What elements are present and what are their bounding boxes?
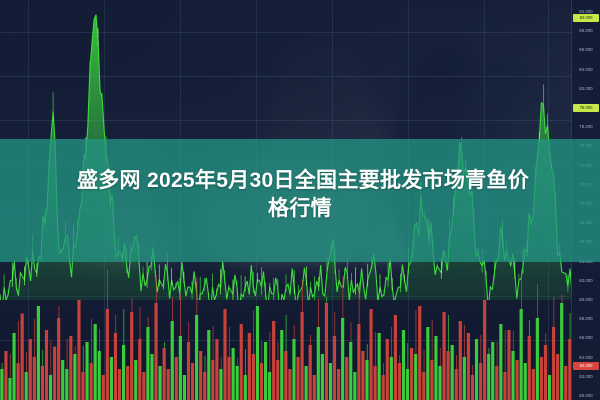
axis-tick: 50.000 — [573, 392, 599, 399]
volume-bar — [374, 366, 377, 400]
volume-bar — [540, 357, 543, 400]
volume-bar — [394, 315, 397, 400]
volume-wick — [480, 335, 481, 363]
volume-bar — [288, 369, 291, 400]
volume-bar — [313, 375, 316, 400]
volume-wick — [172, 297, 173, 321]
volume-bar — [4, 351, 7, 400]
volume-bar — [341, 318, 344, 400]
volume-bar — [292, 339, 295, 400]
volume-bar — [402, 330, 405, 400]
volume-bar — [272, 321, 275, 400]
volume-bar — [471, 375, 474, 400]
volume-wick — [351, 322, 352, 342]
axis-price-tag: 92.000 — [573, 14, 599, 22]
volume-wick — [115, 315, 116, 333]
volume-bar — [406, 369, 409, 400]
volume-wick — [407, 343, 408, 369]
volume-wick — [334, 312, 335, 336]
volume-wick — [383, 363, 384, 375]
volume-wick — [367, 344, 368, 360]
volume-wick — [440, 348, 441, 366]
volume-bar — [0, 369, 3, 400]
volume-wick — [432, 320, 433, 360]
volume-bar — [240, 324, 243, 400]
volume-bar — [122, 345, 125, 400]
volume-bar — [479, 363, 482, 400]
volume-bar — [378, 333, 381, 400]
volume-wick — [310, 335, 311, 345]
volume-bar — [475, 339, 478, 400]
volume-wick — [294, 325, 295, 339]
volume-bar — [483, 300, 486, 400]
axis-tick: 56.000 — [573, 334, 599, 341]
volume-bar — [317, 327, 320, 400]
volume-wick — [42, 350, 43, 366]
volume-bar — [463, 357, 466, 400]
axis-tick: 86.000 — [573, 46, 599, 53]
page-title: 盛多网 2025年5月30日全国主要批发市场青鱼价 格行情 — [0, 168, 600, 224]
volume-wick — [342, 276, 343, 318]
axis-tick: 58.000 — [573, 315, 599, 322]
volume-wick — [416, 310, 417, 354]
volume-wick — [318, 299, 319, 327]
volume-wick — [326, 297, 327, 303]
volume-bar — [321, 354, 324, 400]
volume-bar — [548, 375, 551, 400]
title-line-2: 格行情 — [0, 194, 600, 224]
volume-bar — [199, 351, 202, 400]
volume-bar — [305, 366, 308, 400]
volume-bar — [252, 354, 255, 400]
volume-bar — [159, 366, 162, 400]
volume-bar — [106, 309, 109, 400]
volume-bar — [528, 336, 531, 400]
volume-wick — [237, 358, 238, 366]
volume-bar — [455, 369, 458, 400]
volume-bar — [126, 366, 129, 400]
volume-bar — [183, 375, 186, 400]
axis-tick: 52.000 — [573, 373, 599, 380]
volume-bar — [163, 348, 166, 400]
volume-wick — [83, 346, 84, 372]
volume-bar — [560, 303, 563, 400]
volume-wick — [18, 321, 19, 363]
volume-wick — [156, 275, 157, 303]
volume-wick — [180, 294, 181, 336]
volume-bar — [102, 375, 105, 400]
axis-price-tag: 76.000 — [573, 104, 599, 112]
volume-wick — [269, 332, 270, 372]
volume-bar — [361, 351, 364, 400]
volume-wick — [537, 284, 538, 318]
volume-bar — [191, 363, 194, 400]
volume-bar — [37, 306, 40, 400]
volume-wick — [91, 319, 92, 363]
volume-bar — [329, 363, 332, 400]
volume-wick — [107, 269, 108, 309]
volume-bar — [447, 351, 450, 400]
volume-bar — [552, 327, 555, 400]
volume-bar — [256, 306, 259, 400]
volume-wick — [545, 333, 546, 345]
axis-tick: 82.000 — [573, 85, 599, 92]
volume-bar — [41, 366, 44, 400]
volume-bar — [410, 348, 413, 400]
volume-bar — [284, 351, 287, 400]
volume-bar — [187, 342, 190, 400]
volume-bar — [134, 360, 137, 400]
volume-wick — [261, 341, 262, 363]
volume-bar — [422, 372, 425, 400]
volume-wick — [302, 280, 303, 312]
volume-bar — [211, 360, 214, 400]
volume-wick — [148, 317, 149, 327]
volume-wick — [221, 357, 222, 369]
volume-bar — [118, 369, 121, 400]
volume-bar — [61, 360, 64, 400]
volume-bar — [511, 351, 514, 400]
volume-wick — [229, 327, 230, 357]
volume-bar — [301, 312, 304, 400]
volume-bar — [382, 375, 385, 400]
volume-bar — [524, 363, 527, 400]
volume-bar — [130, 312, 133, 400]
volume-bar — [219, 369, 222, 400]
volume-bar — [398, 363, 401, 400]
volume-wick — [489, 348, 490, 354]
volume-wick — [50, 341, 51, 375]
volume-bar — [495, 366, 498, 400]
volume-bar — [516, 360, 519, 400]
volume-wick — [164, 342, 165, 348]
volume-bar — [248, 333, 251, 400]
axis-tick: 60.000 — [573, 296, 599, 303]
volume-wick — [448, 315, 449, 351]
axis-tick: 78.000 — [573, 123, 599, 130]
volume-bar — [138, 339, 141, 400]
volume-bar — [223, 309, 226, 400]
volume-wick — [245, 349, 246, 375]
volume-bar — [21, 314, 24, 400]
volume-bar — [365, 360, 368, 400]
volume-bar — [544, 345, 547, 400]
volume-bar — [8, 378, 11, 400]
volume-bar — [57, 318, 60, 400]
axis-price-tag: 52.000 — [573, 362, 599, 370]
volume-bar — [390, 357, 393, 400]
volume-bar — [146, 327, 149, 400]
volume-wick — [75, 346, 76, 354]
volume-bar — [438, 366, 441, 400]
volume-bar — [337, 369, 340, 400]
volume-bar — [227, 357, 230, 400]
volume-bar — [418, 306, 421, 400]
title-line-1: 盛多网 2025年5月30日全国主要批发市场青鱼价 — [0, 168, 600, 194]
volume-bar — [45, 330, 48, 400]
volume-bar — [154, 303, 157, 400]
volume-wick — [424, 350, 425, 372]
volume-bar — [536, 318, 539, 400]
volume-bar — [150, 354, 153, 400]
volume-bar — [487, 354, 490, 400]
volume-bar — [171, 321, 174, 400]
volume-bar — [280, 330, 283, 400]
volume-bar — [499, 324, 502, 400]
volume-wick — [34, 319, 35, 357]
volume-bar — [369, 309, 372, 400]
volume-wick — [464, 325, 465, 357]
volume-bar — [94, 324, 97, 400]
volume-bar — [114, 333, 117, 400]
volume-bar — [49, 375, 52, 400]
volume-bar — [65, 369, 68, 400]
volume-wick — [472, 365, 473, 375]
volume-bar — [17, 363, 20, 400]
volume-bar — [77, 300, 80, 400]
volume-bar — [167, 369, 170, 400]
volume-bar — [276, 360, 279, 400]
volume-bar — [85, 342, 88, 400]
volume-bar — [556, 354, 559, 400]
volume-bar — [507, 330, 510, 400]
volume-wick — [375, 332, 376, 366]
volume-wick — [553, 297, 554, 327]
volume-bar — [345, 357, 348, 400]
volume-wick — [359, 286, 360, 324]
axis-tick: 88.000 — [573, 27, 599, 34]
volume-bar — [53, 347, 56, 400]
volume-bar — [564, 366, 567, 400]
volume-bar — [244, 375, 247, 400]
volume-wick — [391, 327, 392, 357]
volume-bar — [459, 321, 462, 400]
axis-tick: 84.000 — [573, 66, 599, 73]
volume-bar — [325, 303, 328, 400]
screenshot-root: 92.00088.00086.00084.00082.00080.00078.0… — [0, 0, 600, 400]
volume-bar — [25, 372, 28, 400]
volume-wick — [196, 277, 197, 315]
volume-bar — [142, 372, 145, 400]
volume-wick — [59, 306, 60, 318]
volume-wick — [213, 326, 214, 360]
volume-bar — [73, 354, 76, 400]
volume-bar — [434, 336, 437, 400]
volume-bar — [264, 342, 267, 400]
volume-bar — [195, 315, 198, 400]
volume-bar — [232, 348, 235, 400]
volume-wick — [205, 356, 206, 372]
volume-bar — [386, 339, 389, 400]
volume-wick — [529, 320, 530, 336]
volume-bar — [349, 342, 352, 400]
volume-bar — [296, 357, 299, 400]
volume-bar — [268, 372, 271, 400]
volume-wick — [562, 295, 563, 303]
volume-bar — [207, 330, 210, 400]
volume-wick — [253, 310, 254, 354]
axis-tick: 54.000 — [573, 354, 599, 361]
volume-wick — [188, 322, 189, 342]
volume-bar — [442, 312, 445, 400]
volume-bar — [175, 357, 178, 400]
volume-bar — [203, 372, 206, 400]
volume-bar — [532, 369, 535, 400]
volume-wick — [513, 331, 514, 351]
volume-bar — [110, 357, 113, 400]
volume-wick — [123, 309, 124, 345]
volume-wick — [286, 315, 287, 351]
volume-bar — [353, 372, 356, 400]
volume-bar — [467, 333, 470, 400]
volume-wick — [505, 330, 506, 372]
volume-bar — [98, 351, 101, 400]
volume-bar — [215, 339, 218, 400]
volume-wick — [99, 329, 100, 351]
volume-bar — [414, 354, 417, 400]
volume-wick — [67, 339, 68, 369]
volume-bar — [236, 366, 239, 400]
volume-bar — [491, 342, 494, 400]
volume-bar — [451, 345, 454, 400]
volume-bar — [260, 363, 263, 400]
volume-wick — [278, 342, 279, 360]
volume-bar — [12, 333, 15, 400]
volume-bar — [90, 363, 93, 400]
volume-wick — [497, 342, 498, 366]
volume-wick — [132, 298, 133, 312]
volume-wick — [140, 307, 141, 339]
volume-bar — [333, 336, 336, 400]
axis-tick: 62.000 — [573, 277, 599, 284]
volume-bar — [69, 336, 72, 400]
volume-wick — [521, 271, 522, 309]
volume-bar — [426, 327, 429, 400]
volume-bar — [309, 345, 312, 400]
volume-bar — [503, 372, 506, 400]
volume-bar — [430, 360, 433, 400]
volume-wick — [456, 355, 457, 369]
volume-bar — [81, 372, 84, 400]
volume-wick — [399, 355, 400, 363]
volume-bar — [179, 336, 182, 400]
volume-bar — [33, 357, 36, 400]
volume-bar — [357, 324, 360, 400]
volume-wick — [10, 354, 11, 378]
volume-bar — [520, 309, 523, 400]
volume-bar — [29, 339, 32, 400]
volume-wick — [26, 352, 27, 372]
volume-wick — [2, 363, 3, 369]
